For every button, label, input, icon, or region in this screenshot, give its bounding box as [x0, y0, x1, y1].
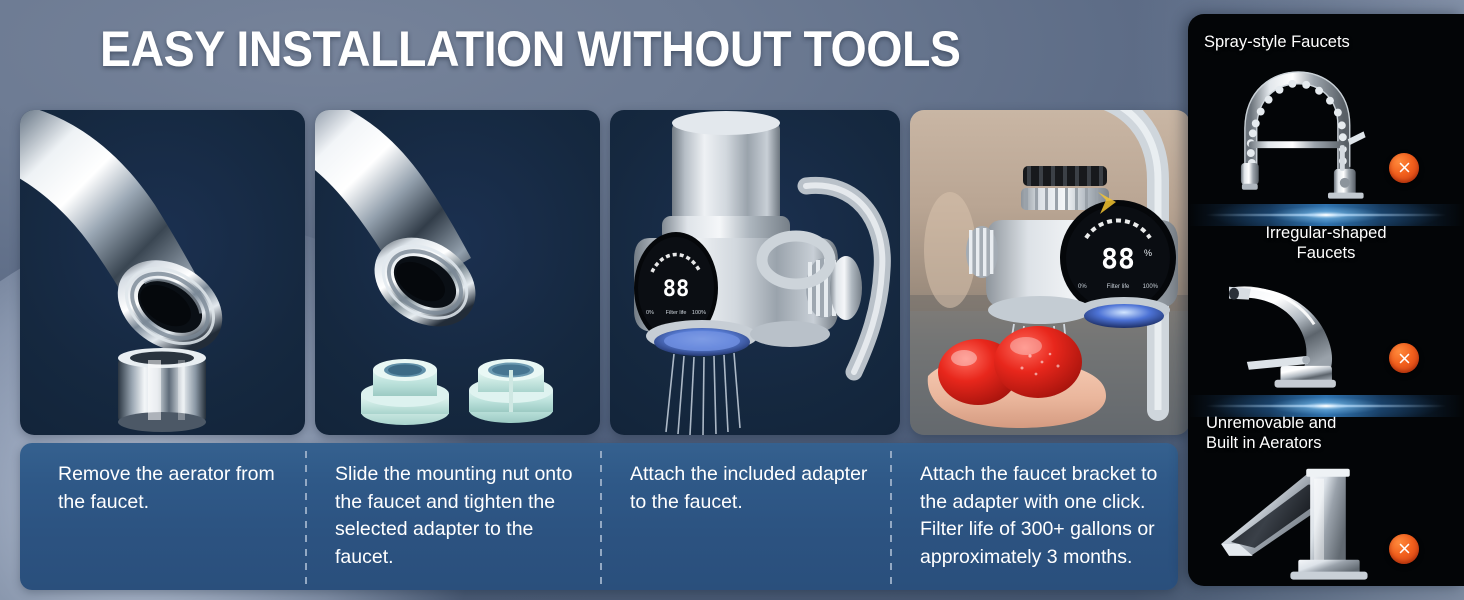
step-caption-2: Slide the mounting nut onto the faucet a… [305, 443, 600, 590]
irregular-shaped-faucet-icon [1188, 259, 1464, 390]
incompatible-item-2: Irregular-shaped Faucets [1188, 205, 1464, 396]
svg-text:%: % [1144, 248, 1152, 258]
step-caption-3: Attach the included adapter to the fauce… [600, 443, 890, 590]
faucet-filter-device-icon: 88 0% Filter life 100% Reset [610, 110, 900, 435]
step-image-4: 88 % 0% Filter life 100% Reset [910, 110, 1190, 435]
infographic-root: EASY INSTALLATION WITHOUT TOOLS [0, 0, 1464, 600]
svg-text:Filter life: Filter life [666, 310, 687, 316]
svg-text:0%: 0% [646, 310, 654, 316]
svg-text:0%: 0% [1078, 284, 1087, 290]
svg-text:100%: 100% [692, 310, 706, 316]
incompatible-title-3: Unremovable and Built in Aerators [1188, 413, 1464, 453]
x-mark-badge-2 [1389, 343, 1419, 373]
installation-steps-section: EASY INSTALLATION WITHOUT TOOLS [0, 0, 1180, 600]
x-mark-badge-1 [1389, 153, 1419, 183]
incompatible-title-1: Spray-style Faucets [1188, 32, 1464, 52]
filter-life-display-2: 88 [1101, 242, 1135, 275]
filter-life-display: 88 [663, 277, 690, 302]
faucet-spout-with-adapters-icon [315, 110, 600, 435]
built-in-aerator-faucet-icon [1188, 449, 1464, 580]
x-mark-icon [1396, 159, 1413, 176]
svg-text:Filter life: Filter life [1107, 284, 1130, 290]
incompatible-item-1: Spray-style Faucets [1188, 14, 1464, 205]
step-caption-bar: Remove the aerator from the faucet. Slid… [20, 443, 1178, 590]
svg-text:100%: 100% [1143, 284, 1159, 290]
step-caption-1: Remove the aerator from the faucet. [20, 443, 305, 590]
incompatible-title-2: Irregular-shaped Faucets [1188, 223, 1464, 263]
step-image-3: 88 0% Filter life 100% Reset [610, 110, 900, 435]
step-image-1 [20, 110, 305, 435]
hand-washing-tomatoes-icon: 88 % 0% Filter life 100% Reset [910, 110, 1190, 435]
incompatible-faucets-panel: Spray-style Faucets [1188, 14, 1464, 586]
incompatible-item-3: Unremovable and Built in Aerators [1188, 395, 1464, 586]
x-mark-badge-3 [1389, 534, 1419, 564]
step-image-row: 88 0% Filter life 100% Reset [20, 110, 1180, 435]
step-image-2 [315, 110, 600, 435]
x-mark-icon [1396, 540, 1413, 557]
faucet-spout-with-aerator-icon [20, 110, 305, 435]
page-title: EASY INSTALLATION WITHOUT TOOLS [100, 24, 960, 74]
step-caption-4: Attach the faucet bracket to the adapter… [890, 443, 1178, 590]
x-mark-icon [1396, 350, 1413, 367]
spray-style-faucet-icon [1188, 68, 1464, 199]
